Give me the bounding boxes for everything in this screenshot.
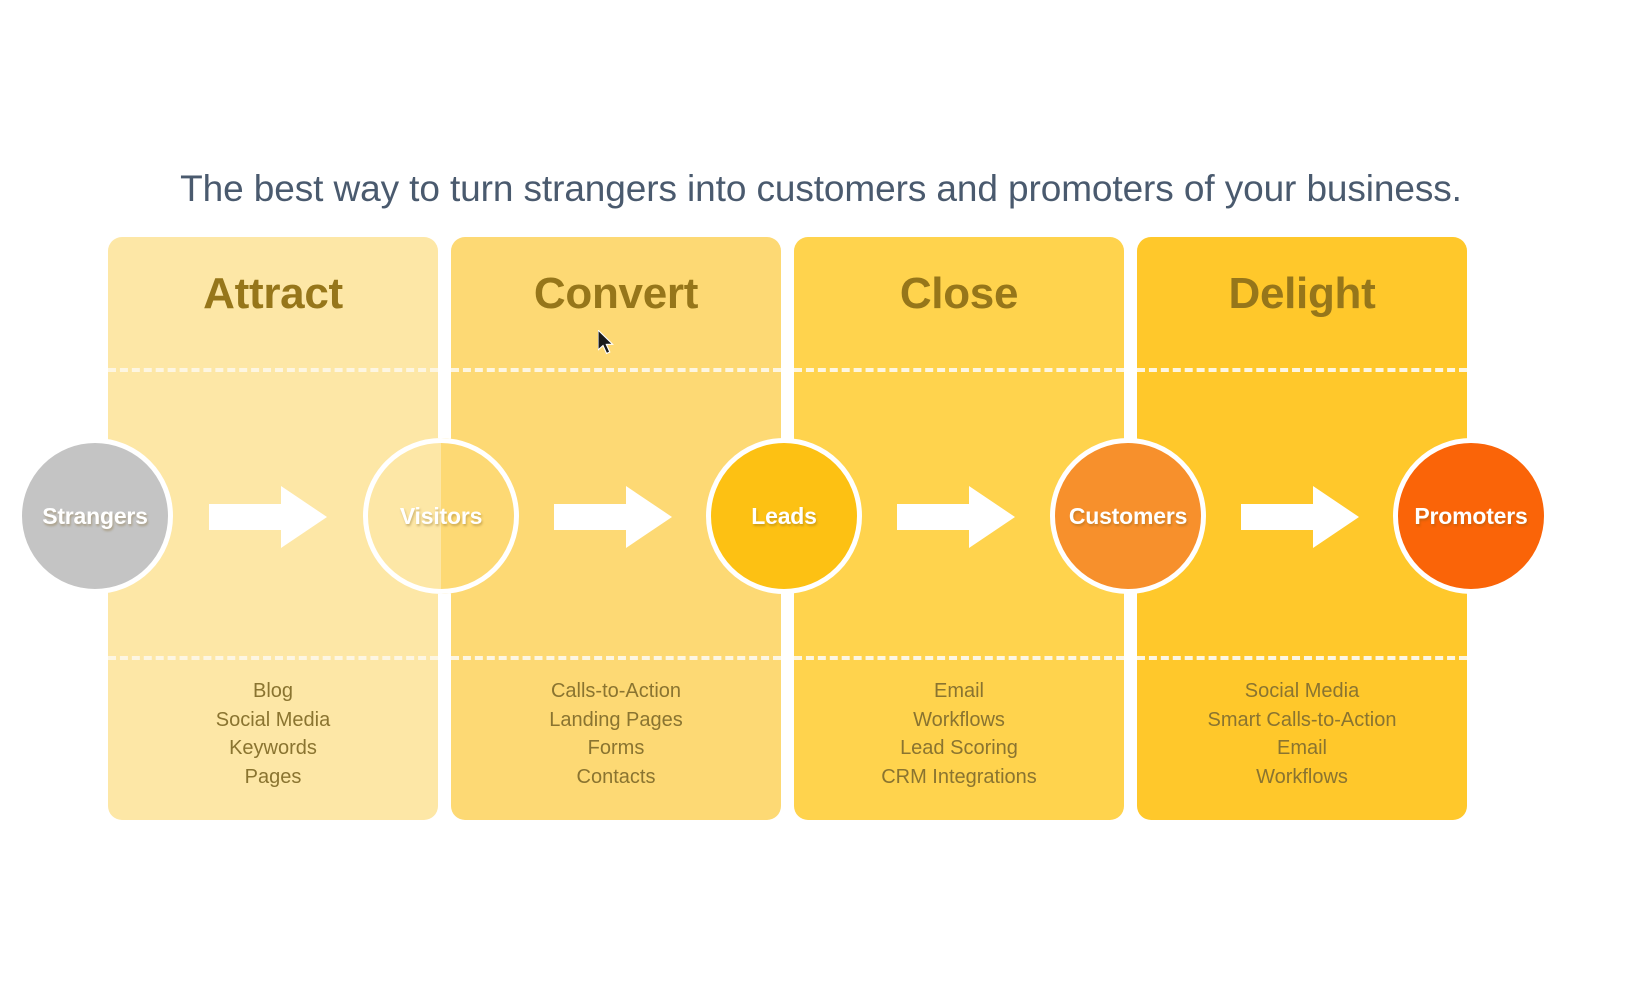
tool-item: Lead Scoring xyxy=(794,734,1124,763)
arrow-right-icon xyxy=(554,486,672,548)
funnel-flow: Strangers Visitors Leads xyxy=(0,438,1642,598)
arrow-right-icon xyxy=(1241,486,1359,548)
tool-item: Smart Calls-to-Action xyxy=(1137,706,1467,735)
tool-item: Email xyxy=(794,677,1124,706)
tool-item: Blog xyxy=(108,677,438,706)
tool-item: CRM Integrations xyxy=(794,763,1124,792)
funnel-node-promoters[interactable]: Promoters xyxy=(1393,438,1549,594)
stage-tools-convert: Calls-to-Action Landing Pages Forms Cont… xyxy=(451,677,781,791)
stage-title-convert: Convert xyxy=(451,269,781,319)
tool-item: Workflows xyxy=(1137,763,1467,792)
divider-bottom xyxy=(451,656,781,660)
tool-item: Workflows xyxy=(794,706,1124,735)
tool-item: Pages xyxy=(108,763,438,792)
funnel-node-customers[interactable]: Customers xyxy=(1050,438,1206,594)
stage-tools-attract: Blog Social Media Keywords Pages xyxy=(108,677,438,791)
tool-item: Email xyxy=(1137,734,1467,763)
divider-top xyxy=(1137,368,1467,372)
page-title: The best way to turn strangers into cust… xyxy=(0,168,1642,210)
funnel-node-label: Promoters xyxy=(1414,503,1527,530)
arrow-right-icon xyxy=(209,486,327,548)
funnel-node-label: Customers xyxy=(1069,503,1187,530)
tool-item: Landing Pages xyxy=(451,706,781,735)
stage-title-delight: Delight xyxy=(1137,269,1467,319)
funnel-node-label: Strangers xyxy=(42,503,148,530)
arrow-right-icon xyxy=(897,486,1015,548)
tool-item: Keywords xyxy=(108,734,438,763)
mouse-pointer-icon xyxy=(598,330,618,358)
funnel-node-strangers[interactable]: Strangers xyxy=(17,438,173,594)
stage-tools-delight: Social Media Smart Calls-to-Action Email… xyxy=(1137,677,1467,791)
funnel-node-leads[interactable]: Leads xyxy=(706,438,862,594)
funnel-node-visitors[interactable]: Visitors xyxy=(363,438,519,594)
tool-item: Contacts xyxy=(451,763,781,792)
stage-tools-close: Email Workflows Lead Scoring CRM Integra… xyxy=(794,677,1124,791)
stage-title-close: Close xyxy=(794,269,1124,319)
stage-title-attract: Attract xyxy=(108,269,438,319)
funnel-node-label: Leads xyxy=(751,503,816,530)
divider-bottom xyxy=(1137,656,1467,660)
tool-item: Social Media xyxy=(108,706,438,735)
divider-bottom xyxy=(794,656,1124,660)
tool-item: Calls-to-Action xyxy=(451,677,781,706)
divider-top xyxy=(108,368,438,372)
methodology-diagram: The best way to turn strangers into cust… xyxy=(0,0,1642,992)
divider-top xyxy=(794,368,1124,372)
divider-bottom xyxy=(108,656,438,660)
funnel-node-label: Visitors xyxy=(400,503,482,530)
tool-item: Social Media xyxy=(1137,677,1467,706)
divider-top xyxy=(451,368,781,372)
tool-item: Forms xyxy=(451,734,781,763)
